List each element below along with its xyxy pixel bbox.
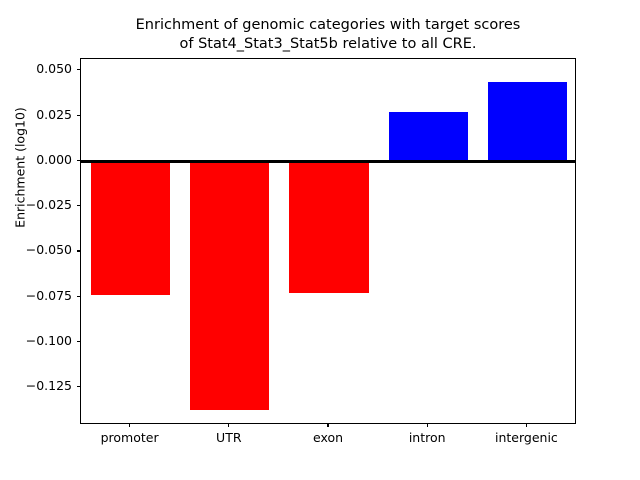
y-axis-label: Enrichment (log10) xyxy=(13,68,28,268)
y-tick-label: 0.000 xyxy=(36,154,72,167)
bar-intergenic xyxy=(488,82,567,162)
y-tick-label: −0.125 xyxy=(26,380,72,393)
x-tick-mark xyxy=(327,423,328,427)
bar-exon xyxy=(289,161,368,292)
bar-promoter xyxy=(91,161,170,295)
page-title: Enrichment of genomic categories with ta… xyxy=(80,16,576,54)
chart-figure: Enrichment of genomic categories with ta… xyxy=(0,0,640,480)
y-tick-label: 0.050 xyxy=(36,63,72,76)
zero-baseline xyxy=(81,160,575,162)
bar-UTR xyxy=(190,161,269,410)
y-tick-label: −0.075 xyxy=(26,290,72,303)
y-tick-label: −0.050 xyxy=(26,244,72,257)
x-tick-mark xyxy=(129,423,130,427)
x-tick-mark xyxy=(526,423,527,427)
y-tick-label: 0.025 xyxy=(36,109,72,122)
x-tick-label-intergenic: intergenic xyxy=(466,431,586,445)
plot-area xyxy=(80,58,576,424)
y-tick-label: −0.100 xyxy=(26,335,72,348)
bar-intron xyxy=(389,112,468,161)
x-tick-mark xyxy=(228,423,229,427)
x-tick-mark xyxy=(427,423,428,427)
y-tick-label: −0.025 xyxy=(26,199,72,212)
